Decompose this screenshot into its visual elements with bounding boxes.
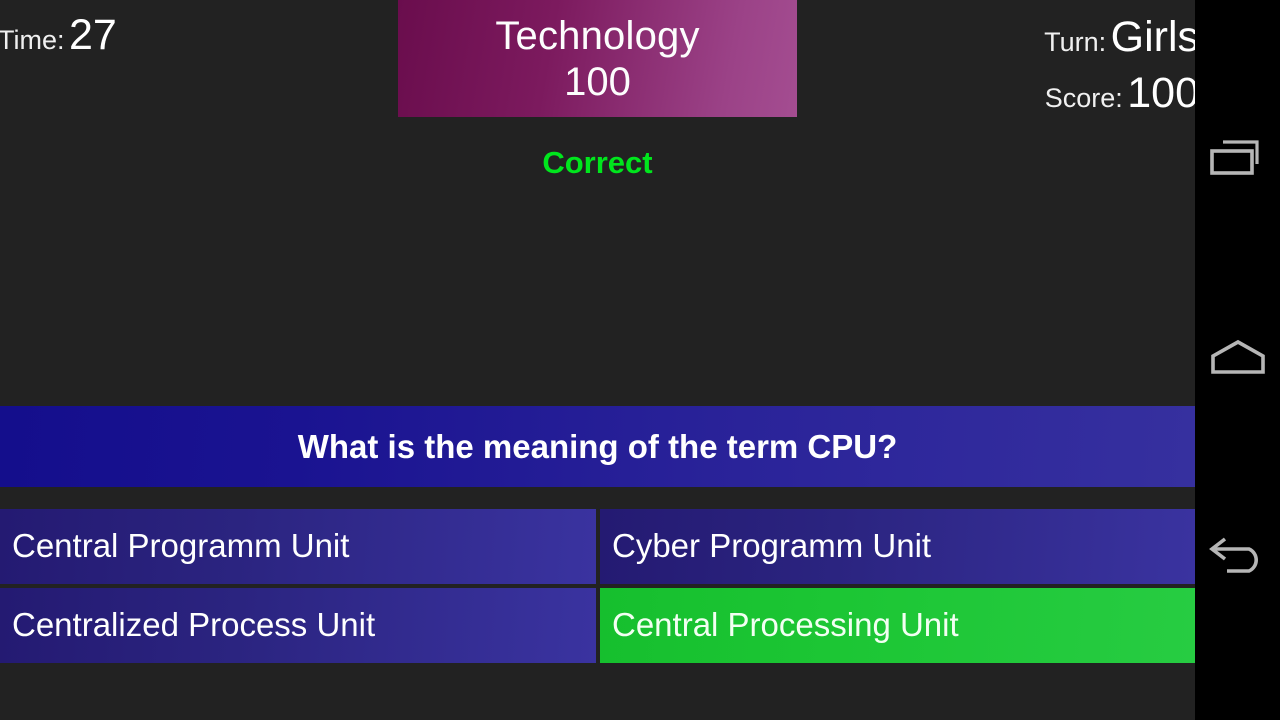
recent-apps-icon	[1207, 136, 1269, 185]
question-banner: What is the meaning of the term CPU?	[0, 406, 1195, 487]
answer-option-2-label: Cyber Programm Unit	[612, 528, 931, 564]
timer-label: Time:	[0, 25, 65, 55]
category-points: 100	[564, 59, 631, 105]
quiz-app-area: Time: 27 Turn: Girls Score: 100 Technolo…	[0, 0, 1195, 720]
answer-option-1[interactable]: Central Programm Unit	[0, 509, 596, 584]
answer-option-3[interactable]: Centralized Process Unit	[0, 588, 596, 663]
question-text: What is the meaning of the term CPU?	[280, 428, 916, 466]
recent-apps-button[interactable]	[1195, 112, 1280, 208]
answer-option-4-correct[interactable]: Central Processing Unit	[600, 588, 1195, 663]
back-icon	[1207, 535, 1269, 586]
timer-display: Time: 27	[0, 14, 117, 57]
turn-value: Girls	[1111, 13, 1195, 61]
back-button[interactable]	[1195, 512, 1280, 608]
answer-grid: Central Programm Unit Cyber Programm Uni…	[0, 509, 1195, 662]
score-value: 100	[1127, 69, 1195, 117]
answer-option-1-label: Central Programm Unit	[12, 528, 349, 564]
turn-label: Turn:	[1044, 27, 1106, 57]
answer-option-2[interactable]: Cyber Programm Unit	[600, 509, 1195, 584]
answer-option-4-label: Central Processing Unit	[612, 607, 959, 643]
home-button[interactable]	[1195, 312, 1280, 408]
category-panel: Technology 100	[398, 0, 797, 117]
answer-feedback: Correct	[398, 146, 797, 180]
timer-value: 27	[69, 11, 117, 59]
category-name: Technology	[495, 14, 699, 59]
score-label: Score:	[1045, 83, 1123, 113]
score-display: Score: 100	[1045, 72, 1195, 115]
home-icon	[1207, 336, 1269, 385]
android-navigation-bar	[1195, 0, 1280, 720]
turn-display: Turn: Girls	[1044, 16, 1195, 59]
answer-option-3-label: Centralized Process Unit	[12, 607, 375, 643]
game-screen: Time: 27 Turn: Girls Score: 100 Technolo…	[0, 0, 1280, 720]
